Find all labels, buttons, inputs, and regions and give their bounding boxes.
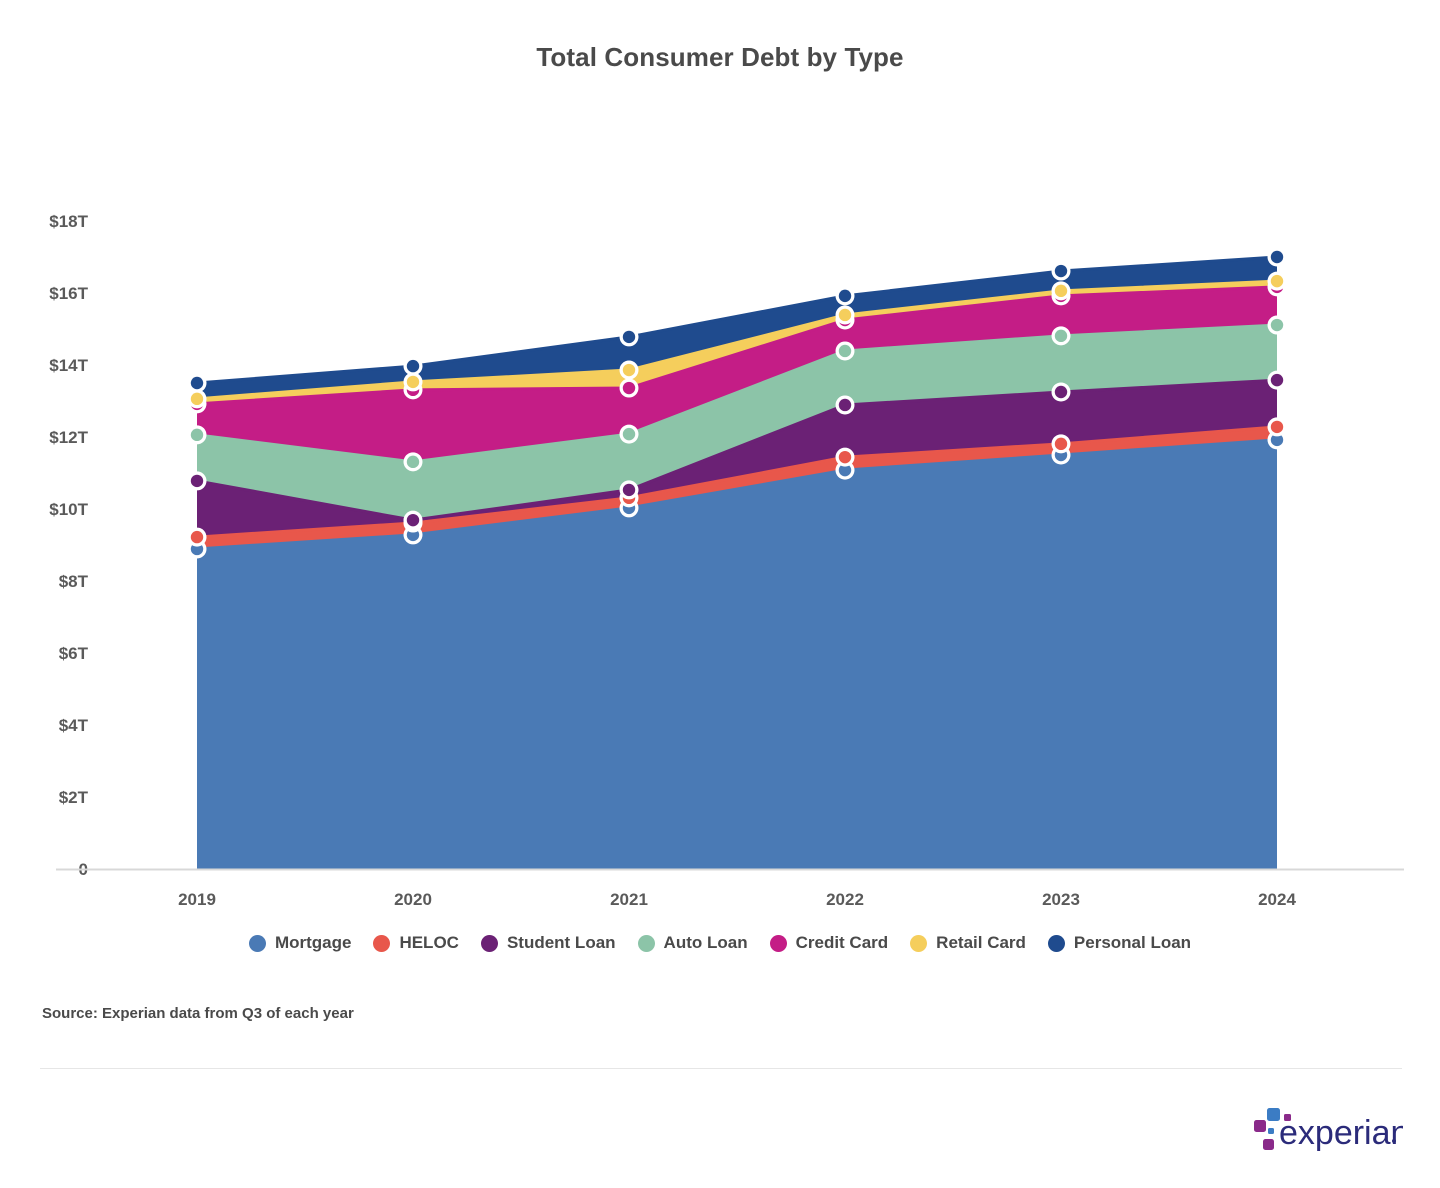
legend-item-auto-loan[interactable]: Auto Loan xyxy=(638,933,748,953)
data-point-auto-loan-2022[interactable] xyxy=(839,345,851,357)
x-axis-tick-2022: 2022 xyxy=(826,890,864,909)
data-point-student-loan-2021[interactable] xyxy=(623,484,635,496)
footer-divider xyxy=(40,1068,1402,1069)
x-axis-labels: 201920202021202220232024 xyxy=(178,890,1296,909)
legend-item-personal-loan[interactable]: Personal Loan xyxy=(1048,933,1191,953)
y-axis-labels: 0$2T$4T$6T$8T$10T$12T$14T$16T$18T xyxy=(49,212,88,879)
data-point-student-loan-2024[interactable] xyxy=(1271,374,1283,386)
logo-square-purple-3 xyxy=(1263,1139,1274,1150)
chart-plot-area: 0$2T$4T$6T$8T$10T$12T$14T$16T$18T 201920… xyxy=(0,0,1440,930)
data-point-credit-card-2021[interactable] xyxy=(623,382,635,394)
x-axis-tick-2023: 2023 xyxy=(1042,890,1080,909)
legend-swatch-icon xyxy=(373,935,390,952)
logo-square-purple-2 xyxy=(1254,1120,1266,1132)
data-point-heloc-2019[interactable] xyxy=(191,531,203,543)
data-point-personal-loan-2023[interactable] xyxy=(1055,265,1067,277)
data-point-personal-loan-2020[interactable] xyxy=(407,360,419,372)
stacked-area-chart: 0$2T$4T$6T$8T$10T$12T$14T$16T$18T 201920… xyxy=(0,0,1440,930)
legend-label: Credit Card xyxy=(796,933,889,953)
y-axis-tick-18T: $18T xyxy=(49,212,88,231)
data-point-auto-loan-2019[interactable] xyxy=(191,429,203,441)
logo-trademark-dot xyxy=(1392,1139,1396,1143)
y-axis-tick-4T: $4T xyxy=(59,716,89,735)
chart-legend: MortgageHELOCStudent LoanAuto LoanCredit… xyxy=(0,933,1440,953)
y-axis-tick-10T: $10T xyxy=(49,500,88,519)
data-point-retail-card-2023[interactable] xyxy=(1055,285,1067,297)
legend-label: Student Loan xyxy=(507,933,616,953)
experian-logo-svg: experian xyxy=(1253,1104,1403,1158)
y-axis-tick-12T: $12T xyxy=(49,428,88,447)
logo-square-blue-2 xyxy=(1268,1128,1274,1134)
legend-swatch-icon xyxy=(249,935,266,952)
data-point-student-loan-2019[interactable] xyxy=(191,475,203,487)
legend-item-mortgage[interactable]: Mortgage xyxy=(249,933,352,953)
legend-swatch-icon xyxy=(910,935,927,952)
legend-label: Personal Loan xyxy=(1074,933,1191,953)
data-point-heloc-2023[interactable] xyxy=(1055,438,1067,450)
chart-page: Total Consumer Debt by Type 0$2T$4T$6T$8… xyxy=(0,0,1440,1188)
x-axis-tick-2021: 2021 xyxy=(610,890,648,909)
y-axis-tick-2T: $2T xyxy=(59,788,89,807)
logo-wordmark: experian xyxy=(1279,1114,1403,1152)
x-axis-tick-2020: 2020 xyxy=(394,890,432,909)
legend-label: HELOC xyxy=(399,933,459,953)
legend-swatch-icon xyxy=(638,935,655,952)
legend-label: Auto Loan xyxy=(664,933,748,953)
legend-item-heloc[interactable]: HELOC xyxy=(373,933,459,953)
experian-logo: experian xyxy=(1253,1104,1403,1158)
data-point-personal-loan-2021[interactable] xyxy=(623,331,635,343)
legend-label: Mortgage xyxy=(275,933,352,953)
data-point-student-loan-2022[interactable] xyxy=(839,399,851,411)
data-point-heloc-2022[interactable] xyxy=(839,451,851,463)
data-point-auto-loan-2020[interactable] xyxy=(407,456,419,468)
legend-label: Retail Card xyxy=(936,933,1026,953)
y-axis-tick-16T: $16T xyxy=(49,284,88,303)
source-note: Source: Experian data from Q3 of each ye… xyxy=(42,1005,354,1022)
data-point-personal-loan-2024[interactable] xyxy=(1271,251,1283,263)
data-point-personal-loan-2019[interactable] xyxy=(191,377,203,389)
area-series-group xyxy=(197,257,1277,869)
data-point-heloc-2024[interactable] xyxy=(1271,421,1283,433)
legend-item-retail-card[interactable]: Retail Card xyxy=(910,933,1026,953)
x-axis-tick-2019: 2019 xyxy=(178,890,216,909)
data-point-auto-loan-2023[interactable] xyxy=(1055,330,1067,342)
data-point-student-loan-2023[interactable] xyxy=(1055,386,1067,398)
data-point-retail-card-2019[interactable] xyxy=(191,393,203,405)
y-axis-tick-6T: $6T xyxy=(59,644,89,663)
legend-swatch-icon xyxy=(770,935,787,952)
data-point-auto-loan-2021[interactable] xyxy=(623,428,635,440)
legend-item-student-loan[interactable]: Student Loan xyxy=(481,933,616,953)
data-point-personal-loan-2022[interactable] xyxy=(839,290,851,302)
legend-item-credit-card[interactable]: Credit Card xyxy=(770,933,889,953)
data-point-retail-card-2020[interactable] xyxy=(407,376,419,388)
y-axis-tick-8T: $8T xyxy=(59,572,89,591)
y-axis-tick-14T: $14T xyxy=(49,356,88,375)
data-point-retail-card-2021[interactable] xyxy=(623,364,635,376)
legend-swatch-icon xyxy=(1048,935,1065,952)
legend-swatch-icon xyxy=(481,935,498,952)
x-axis-tick-2024: 2024 xyxy=(1258,890,1296,909)
data-point-retail-card-2024[interactable] xyxy=(1271,275,1283,287)
data-point-student-loan-2020[interactable] xyxy=(407,514,419,526)
data-point-retail-card-2022[interactable] xyxy=(839,309,851,321)
data-point-auto-loan-2024[interactable] xyxy=(1271,319,1283,331)
